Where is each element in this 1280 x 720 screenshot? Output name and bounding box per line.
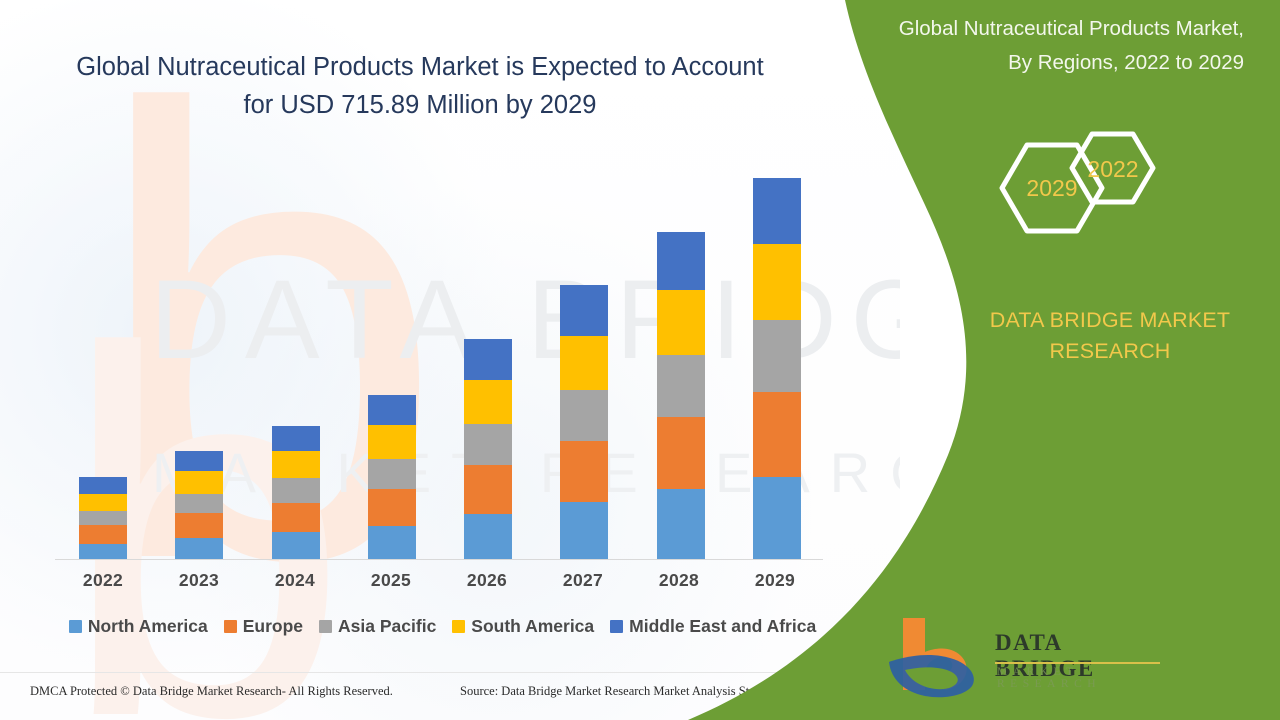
infographic-root: b b DATA BRIDGE MARKET RESEARCH Global N… bbox=[0, 0, 1280, 720]
bar-segment bbox=[175, 451, 223, 471]
bar-segment bbox=[464, 514, 512, 559]
brand-line-1: DATA BRIDGE MARKET bbox=[990, 308, 1231, 332]
bar-segment bbox=[560, 390, 608, 441]
legend-swatch-icon bbox=[69, 620, 82, 633]
bar-segment bbox=[272, 503, 320, 533]
bar-segment bbox=[175, 513, 223, 538]
bar-segment bbox=[79, 477, 127, 493]
footer-source: Source: Data Bridge Market Research Mark… bbox=[460, 684, 796, 699]
bar-segment bbox=[753, 320, 801, 393]
chart-axis-line bbox=[55, 559, 823, 560]
legend-item[interactable]: South America bbox=[452, 616, 594, 637]
stacked-bar-2028[interactable] bbox=[657, 232, 705, 559]
bar-segment bbox=[79, 494, 127, 511]
brand-line-2: RESEARCH bbox=[1049, 339, 1170, 363]
x-axis-label-2023: 2023 bbox=[151, 570, 247, 591]
legend-item[interactable]: Asia Pacific bbox=[319, 616, 436, 637]
chart-legend: North AmericaEuropeAsia PacificSouth Ame… bbox=[55, 616, 830, 637]
stacked-bar-2024[interactable] bbox=[272, 426, 320, 559]
legend-label: Middle East and Africa bbox=[629, 616, 816, 637]
footer-divider bbox=[0, 672, 900, 673]
footer-copyright: DMCA Protected © Data Bridge Market Rese… bbox=[30, 684, 393, 699]
stacked-bar-2026[interactable] bbox=[464, 339, 512, 559]
hexagon-2022-label: 2022 bbox=[1087, 156, 1138, 182]
bar-segment bbox=[79, 525, 127, 543]
panel-title: Global Nutraceutical Products Market, By… bbox=[884, 12, 1244, 80]
bar-segment bbox=[175, 471, 223, 493]
bar-segment bbox=[175, 494, 223, 513]
bar-segment bbox=[368, 395, 416, 425]
bar-segment bbox=[464, 465, 512, 514]
page-title: Global Nutraceutical Products Market is … bbox=[60, 48, 780, 124]
bar-slot bbox=[536, 150, 632, 559]
bar-segment bbox=[368, 489, 416, 526]
bar-segment bbox=[753, 178, 801, 244]
stacked-bar-2029[interactable] bbox=[753, 178, 801, 559]
bar-slot bbox=[633, 150, 729, 559]
chart-bars bbox=[55, 150, 825, 559]
bar-segment bbox=[368, 459, 416, 490]
bar-segment bbox=[657, 355, 705, 417]
bar-segment bbox=[753, 477, 801, 559]
legend-swatch-icon bbox=[224, 620, 237, 633]
bar-segment bbox=[657, 232, 705, 290]
bar-segment bbox=[272, 478, 320, 503]
legend-item[interactable]: Europe bbox=[224, 616, 303, 637]
bar-segment bbox=[657, 489, 705, 559]
legend-swatch-icon bbox=[319, 620, 332, 633]
x-axis-label-2026: 2026 bbox=[439, 570, 535, 591]
x-axis-label-2025: 2025 bbox=[343, 570, 439, 591]
left-chart-panel: b b DATA BRIDGE MARKET RESEARCH Global N… bbox=[0, 0, 900, 720]
bar-segment bbox=[657, 290, 705, 354]
stacked-bar-2025[interactable] bbox=[368, 395, 416, 559]
bar-segment bbox=[753, 392, 801, 477]
logo-underline bbox=[995, 662, 1160, 664]
bar-slot bbox=[248, 150, 344, 559]
stacked-bar-2022[interactable] bbox=[79, 477, 127, 559]
bar-segment bbox=[560, 502, 608, 559]
bar-slot bbox=[344, 150, 440, 559]
legend-item[interactable]: North America bbox=[69, 616, 208, 637]
bar-segment bbox=[464, 380, 512, 424]
legend-swatch-icon bbox=[610, 620, 623, 633]
legend-label: Asia Pacific bbox=[338, 616, 436, 637]
stacked-bar-2023[interactable] bbox=[175, 451, 223, 559]
stacked-bar-2027[interactable] bbox=[560, 285, 608, 559]
bar-segment bbox=[272, 426, 320, 451]
x-axis-label-2024: 2024 bbox=[247, 570, 343, 591]
legend-label: North America bbox=[88, 616, 208, 637]
data-bridge-logo-mark-icon bbox=[885, 612, 990, 700]
bar-segment bbox=[79, 544, 127, 559]
bar-segment bbox=[560, 441, 608, 501]
right-panel-content: Global Nutraceutical Products Market, By… bbox=[840, 0, 1280, 720]
legend-label: South America bbox=[471, 616, 594, 637]
bar-segment bbox=[560, 285, 608, 336]
chart-x-axis-labels: 20222023202420252026202720282029 bbox=[55, 570, 823, 591]
hexagon-2029-label: 2029 bbox=[1026, 175, 1077, 201]
bar-segment bbox=[657, 417, 705, 490]
bar-slot bbox=[151, 150, 247, 559]
bar-slot bbox=[729, 150, 825, 559]
bar-segment bbox=[753, 244, 801, 320]
bar-slot bbox=[55, 150, 151, 559]
bar-segment bbox=[175, 538, 223, 559]
bar-segment bbox=[368, 526, 416, 559]
bar-segment bbox=[272, 532, 320, 559]
bar-segment bbox=[464, 339, 512, 380]
bar-segment bbox=[368, 425, 416, 459]
x-axis-label-2027: 2027 bbox=[535, 570, 631, 591]
x-axis-label-2028: 2028 bbox=[631, 570, 727, 591]
bar-segment bbox=[79, 511, 127, 525]
hexagon-badges: 2029 2022 bbox=[985, 130, 1185, 265]
logo-tagline: MARKET RESEARCH bbox=[997, 666, 1165, 690]
bar-segment bbox=[272, 451, 320, 479]
stacked-bar-chart bbox=[55, 150, 825, 560]
bar-segment bbox=[560, 336, 608, 390]
brand-name: DATA BRIDGE MARKET RESEARCH bbox=[960, 305, 1260, 367]
legend-swatch-icon bbox=[452, 620, 465, 633]
x-axis-label-2029: 2029 bbox=[727, 570, 823, 591]
bar-segment bbox=[464, 424, 512, 465]
legend-item[interactable]: Middle East and Africa bbox=[610, 616, 816, 637]
legend-label: Europe bbox=[243, 616, 303, 637]
bar-slot bbox=[440, 150, 536, 559]
x-axis-label-2022: 2022 bbox=[55, 570, 151, 591]
data-bridge-logo: DATA BRIDGE MARKET RESEARCH bbox=[885, 612, 1165, 704]
